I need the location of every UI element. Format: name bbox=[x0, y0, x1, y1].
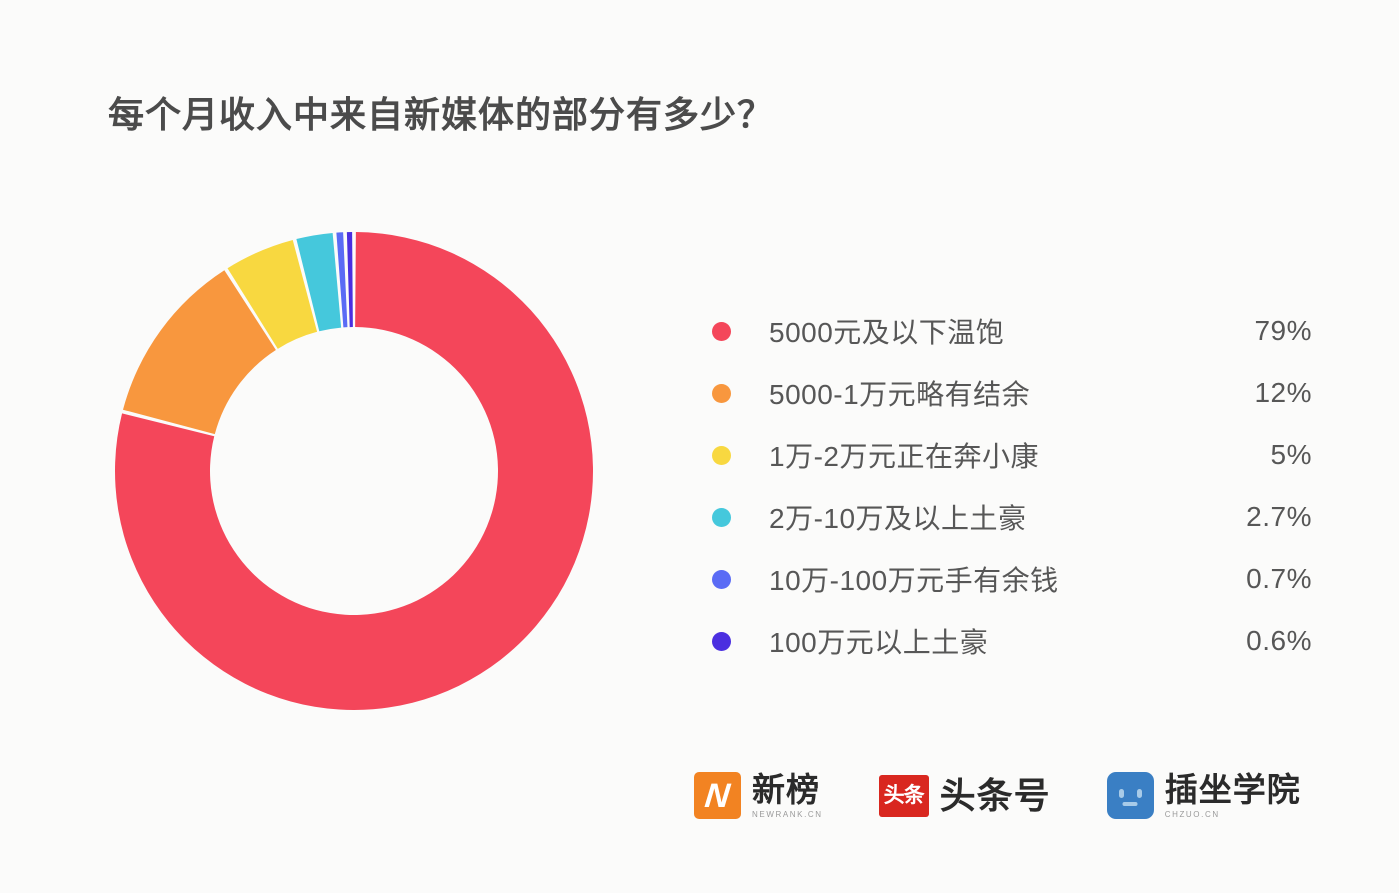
legend-color-swatch-icon bbox=[712, 508, 731, 527]
legend-item-value: 12% bbox=[1194, 377, 1312, 409]
chazuo-text: 插坐学院 CHZUO.CN bbox=[1165, 773, 1301, 819]
newrank-text: 新榜 NEWRANK.CN bbox=[752, 773, 823, 819]
legend-color-swatch-icon bbox=[712, 632, 731, 651]
legend-item[interactable]: 10万-100万元手有余钱 0.7% bbox=[712, 548, 1312, 610]
legend-item-label: 5000元及以下温饱 bbox=[769, 311, 1194, 351]
legend-item-label: 100万元以上土豪 bbox=[769, 621, 1194, 661]
legend-item-label: 5000-1万元略有结余 bbox=[769, 373, 1194, 413]
logo-toutiaohao: 头条 头条号 bbox=[879, 775, 1051, 817]
chazuo-eye-right bbox=[1137, 789, 1142, 798]
chazuo-mouth bbox=[1123, 802, 1138, 806]
donut-chart bbox=[115, 232, 593, 710]
chazuo-face-icon bbox=[1107, 772, 1154, 819]
donut-chart-svg bbox=[115, 232, 593, 710]
legend-item[interactable]: 100万元以上土豪 0.6% bbox=[712, 610, 1312, 672]
legend-item-label: 1万-2万元正在奔小康 bbox=[769, 435, 1194, 475]
donut-slice-group bbox=[115, 232, 593, 710]
toutiaohao-text: 头条号 bbox=[940, 778, 1051, 814]
legend-item[interactable]: 1万-2万元正在奔小康 5% bbox=[712, 424, 1312, 486]
legend-color-swatch-icon bbox=[712, 446, 731, 465]
logo-chazuo: 插坐学院 CHZUO.CN bbox=[1107, 772, 1301, 819]
legend-item-label: 2万-10万及以上土豪 bbox=[769, 497, 1194, 537]
legend-item-value: 0.6% bbox=[1194, 625, 1312, 657]
logo-newrank: N 新榜 NEWRANK.CN bbox=[694, 772, 823, 819]
page-title: 每个月收入中来自新媒体的部分有多少？ bbox=[108, 86, 774, 138]
legend-color-swatch-icon bbox=[712, 570, 731, 589]
legend-item[interactable]: 5000-1万元略有结余 12% bbox=[712, 362, 1312, 424]
newrank-n-glyph: N bbox=[703, 779, 731, 813]
chart-legend: 5000元及以下温饱 79% 5000-1万元略有结余 12% 1万-2万元正在… bbox=[712, 300, 1312, 672]
legend-item[interactable]: 5000元及以下温饱 79% bbox=[712, 300, 1312, 362]
legend-item-label: 10万-100万元手有余钱 bbox=[769, 559, 1194, 599]
donut-slice[interactable] bbox=[347, 232, 353, 327]
chazuo-eye-left bbox=[1119, 789, 1124, 798]
legend-item-value: 0.7% bbox=[1194, 563, 1312, 595]
footer-logo-bar: N 新榜 NEWRANK.CN 头条 头条号 插坐学院 CHZUO.CN bbox=[694, 772, 1301, 819]
legend-item[interactable]: 2万-10万及以上土豪 2.7% bbox=[712, 486, 1312, 548]
newrank-sub: NEWRANK.CN bbox=[752, 811, 823, 819]
newrank-mark-icon: N bbox=[694, 772, 741, 819]
legend-color-swatch-icon bbox=[712, 384, 731, 403]
legend-item-value: 79% bbox=[1194, 315, 1312, 347]
toutiaohao-mark-icon: 头条 bbox=[879, 775, 929, 817]
toutiaohao-name: 头条号 bbox=[940, 778, 1051, 814]
legend-item-value: 5% bbox=[1194, 439, 1312, 471]
chazuo-sub: CHZUO.CN bbox=[1165, 811, 1301, 819]
newrank-name: 新榜 bbox=[752, 773, 823, 806]
legend-color-swatch-icon bbox=[712, 322, 731, 341]
chazuo-name: 插坐学院 bbox=[1165, 773, 1301, 806]
toutiaohao-mark-glyph: 头条 bbox=[884, 785, 924, 806]
legend-item-value: 2.7% bbox=[1194, 501, 1312, 533]
